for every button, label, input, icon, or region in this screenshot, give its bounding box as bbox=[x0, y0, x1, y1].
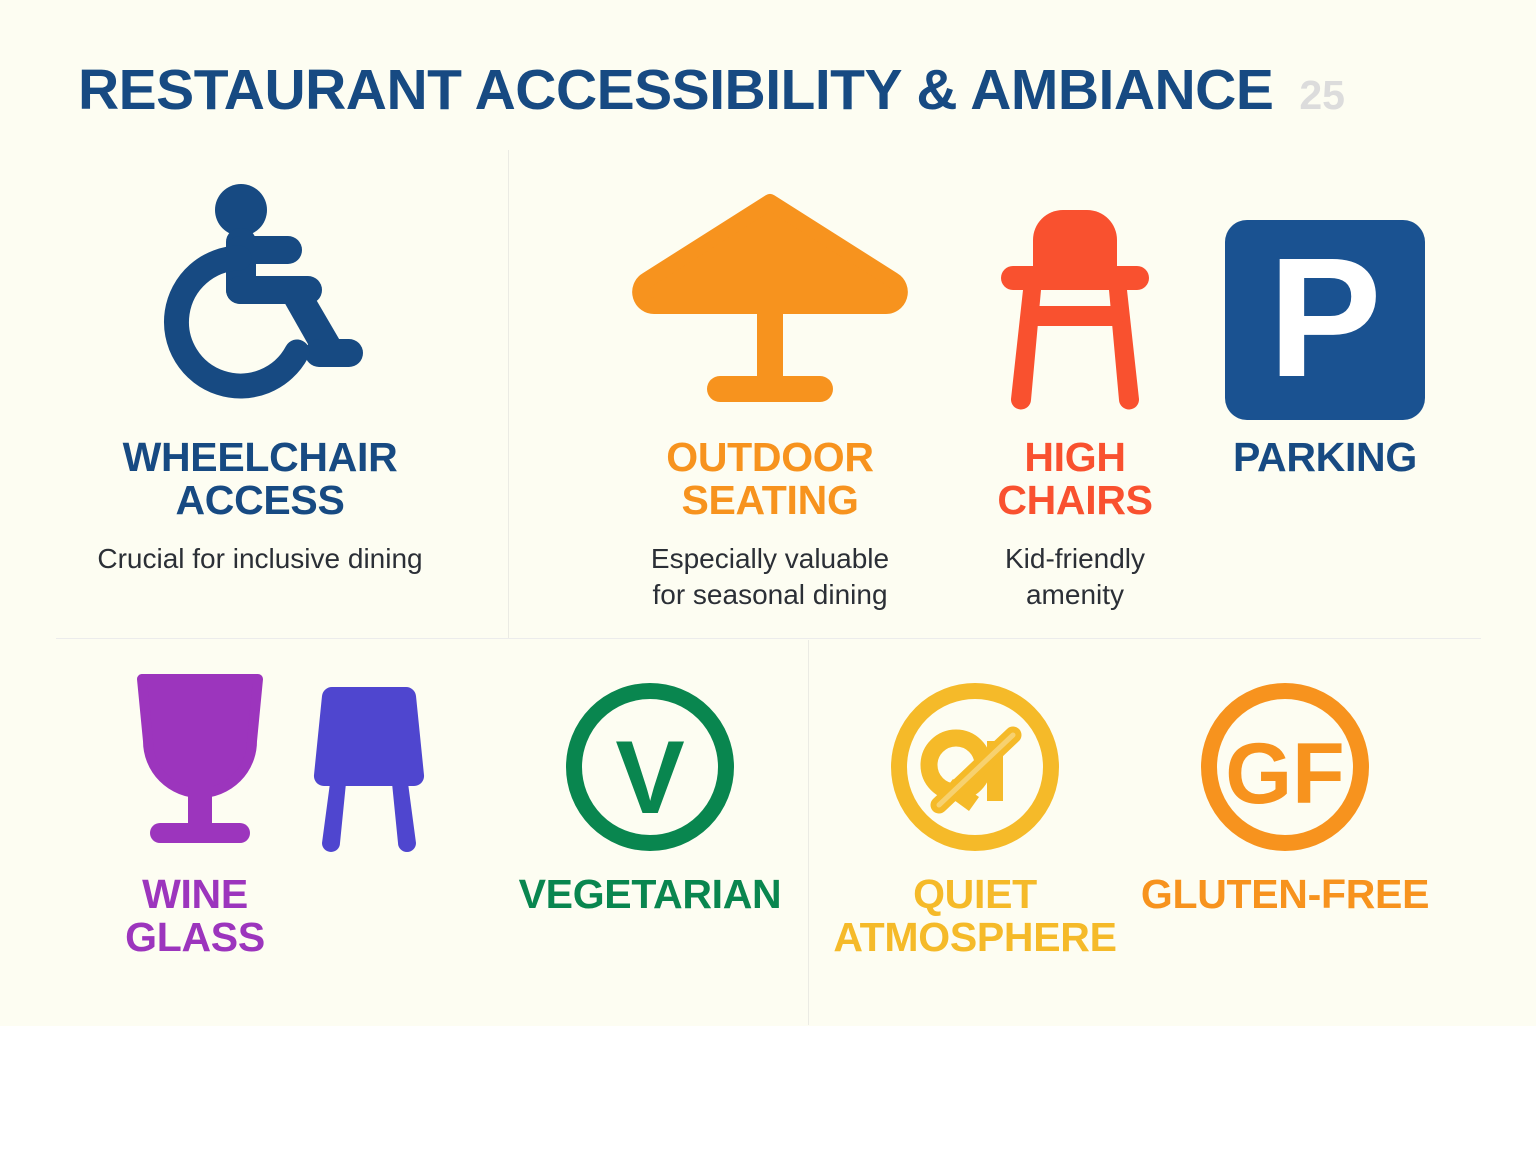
feature-label: QUIET ATMOSPHERE bbox=[833, 873, 1116, 958]
feature-label: VEGETARIAN bbox=[519, 873, 782, 916]
wine-glass-icon bbox=[132, 673, 268, 855]
svg-text:P: P bbox=[1268, 223, 1381, 413]
stool-icon bbox=[310, 679, 428, 855]
feature-label: WHEELCHAIR ACCESS bbox=[123, 436, 398, 521]
slide-header: RESTAURANT ACCESSIBILITY & AMBIANCE 25 bbox=[78, 62, 1498, 136]
icon-container bbox=[132, 665, 428, 855]
vegetarian-v-circle-icon: V bbox=[562, 679, 738, 855]
feature-label: PARKING bbox=[1233, 436, 1417, 479]
page-title: RESTAURANT ACCESSIBILITY & AMBIANCE bbox=[78, 62, 1273, 119]
feature-parking[interactable]: P PARKING bbox=[1175, 180, 1475, 479]
feature-quiet-atmosphere[interactable]: QUIET ATMOSPHERE bbox=[830, 672, 1120, 958]
slide-root: RESTAURANT ACCESSIBILITY & AMBIANCE 25 bbox=[0, 0, 1536, 1154]
page-number: 25 bbox=[1299, 75, 1345, 116]
icon-container: V bbox=[562, 672, 738, 855]
feature-gluten-free[interactable]: GF GLUTEN-FREE bbox=[1125, 672, 1445, 916]
icon-container: P bbox=[1225, 180, 1425, 420]
feature-label: WINE GLASS bbox=[125, 873, 265, 958]
parking-sign-icon: P bbox=[1225, 220, 1425, 420]
icon-container bbox=[887, 672, 1063, 855]
feature-description: Crucial for inclusive dining bbox=[97, 541, 422, 577]
feature-vegetarian[interactable]: V VEGETARIAN bbox=[500, 672, 800, 916]
divider-vertical-row1 bbox=[508, 150, 509, 638]
wheelchair-icon bbox=[157, 184, 363, 420]
feature-description: Kid-friendly amenity bbox=[1005, 541, 1145, 612]
icon-container bbox=[995, 180, 1155, 420]
svg-text:GF: GF bbox=[1225, 726, 1344, 822]
divider-horizontal bbox=[56, 638, 1481, 639]
svg-text:V: V bbox=[615, 720, 684, 836]
umbrella-icon bbox=[635, 194, 905, 420]
high-chair-icon bbox=[995, 204, 1155, 420]
feature-wine-glass[interactable]: WINE GLASS bbox=[60, 665, 500, 958]
divider-vertical-row2 bbox=[808, 640, 809, 1025]
icon-container bbox=[157, 180, 363, 420]
feature-wheelchair-access[interactable]: WHEELCHAIR ACCESS Crucial for inclusive … bbox=[30, 180, 490, 577]
feature-label: OUTDOOR SEATING bbox=[666, 436, 873, 521]
feature-label: HIGH CHAIRS bbox=[997, 436, 1152, 521]
feature-outdoor-seating[interactable]: OUTDOOR SEATING Especially valuable for … bbox=[570, 180, 970, 612]
icon-container bbox=[635, 180, 905, 420]
feature-description: Especially valuable for seasonal dining bbox=[651, 541, 889, 612]
feature-label: GLUTEN-FREE bbox=[1141, 873, 1429, 916]
gluten-free-circle-icon: GF bbox=[1197, 679, 1373, 855]
no-sound-circle-icon bbox=[887, 679, 1063, 855]
icon-container: GF bbox=[1197, 672, 1373, 855]
